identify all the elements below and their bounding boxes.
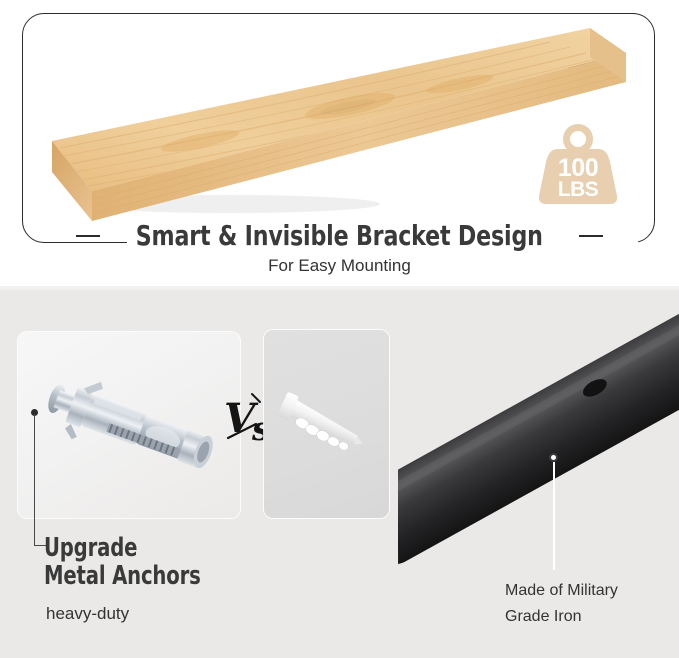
callout-line-right — [553, 462, 555, 570]
callout-line-left-vertical — [34, 414, 36, 546]
plastic-anchor-icon — [264, 330, 389, 518]
product-infographic: 100 LBS Smart & Invisible Bracket Design… — [0, 0, 679, 658]
headline-rule-left — [76, 235, 100, 237]
black-iron-pipe-icon — [398, 290, 679, 590]
metal-anchor-photo-box — [18, 332, 240, 518]
headline-row: Smart & Invisible Bracket Design — [0, 216, 679, 256]
callout-right-text: Made of Military Grade Iron — [505, 578, 618, 630]
page-title: Smart & Invisible Bracket Design — [127, 221, 552, 251]
headline-rule-right — [579, 235, 603, 237]
callout-right-line2: Grade Iron — [505, 604, 618, 630]
callout-left-title-line1: Upgrade — [44, 534, 201, 562]
weight-capacity-badge: 100 LBS — [533, 122, 623, 212]
callout-left-title: Upgrade Metal Anchors — [44, 534, 201, 590]
iron-pipe-image-wrap — [398, 290, 679, 590]
page-subtitle: For Easy Mounting — [0, 256, 679, 276]
top-panel: 100 LBS Smart & Invisible Bracket Design… — [0, 0, 679, 288]
metal-anchor-icon — [18, 332, 240, 518]
callout-left-subtitle: heavy-duty — [46, 604, 129, 624]
callout-left-title-line2: Metal Anchors — [44, 562, 201, 590]
callout-right-line1: Made of Military — [505, 578, 618, 604]
plastic-anchor-photo-box — [264, 330, 389, 518]
callout-dot-right — [549, 453, 558, 462]
weight-unit: LBS — [533, 179, 623, 200]
